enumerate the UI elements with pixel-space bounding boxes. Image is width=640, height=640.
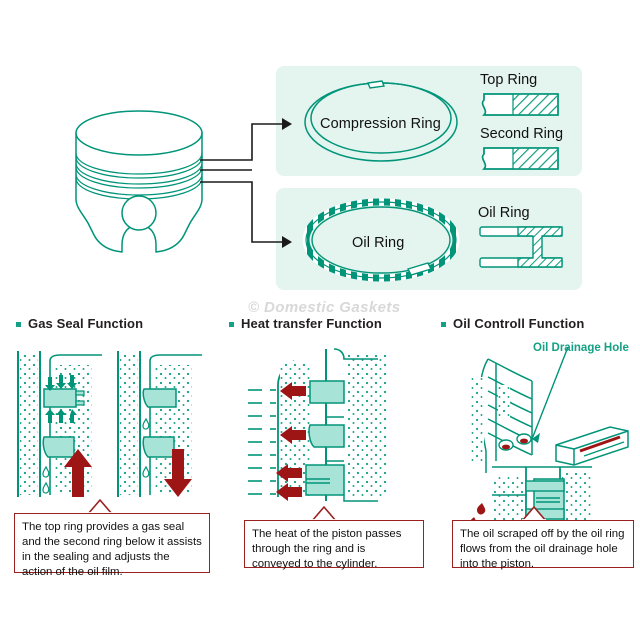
top-ring-title: Top Ring <box>480 72 537 88</box>
second-ring-title: Second Ring <box>480 126 563 142</box>
gas-seal-caption: The top ring provides a gas seal and the… <box>14 513 210 573</box>
compression-ring-label: Compression Ring <box>320 116 441 132</box>
gas-seal-caption-pointer <box>86 498 116 514</box>
heat-transfer-illustration <box>248 345 418 505</box>
heat-transfer-caption: The heat of the piston passes through th… <box>244 520 424 568</box>
gas-seal-illustration <box>14 345 210 505</box>
oil-control-illustration <box>448 355 634 510</box>
watermark: © Domestic Gaskets <box>248 299 400 316</box>
oil-ring-label: Oil Ring <box>352 235 404 251</box>
oil-drainage-hole-label: Oil Drainage Hole <box>533 342 629 354</box>
oil-control-caption: The oil scraped off by the oil ring flow… <box>452 520 634 568</box>
heat-transfer-caption-pointer <box>310 505 340 521</box>
oil-control-caption-pointer <box>520 505 550 521</box>
oil-ring-xsec-title: Oil Ring <box>478 205 530 221</box>
connector-lines <box>196 120 292 250</box>
heat-transfer-bullet <box>229 322 234 327</box>
oil-control-heading: Oil Controll Function <box>453 316 584 331</box>
oil-ring-cross-section <box>478 224 564 270</box>
gas-seal-heading: Gas Seal Function <box>28 316 143 331</box>
gas-seal-bullet <box>16 322 21 327</box>
second-ring-cross-section <box>480 147 558 171</box>
top-ring-cross-section <box>480 93 558 117</box>
heat-transfer-heading: Heat transfer Function <box>241 316 382 331</box>
oil-control-bullet <box>441 322 446 327</box>
